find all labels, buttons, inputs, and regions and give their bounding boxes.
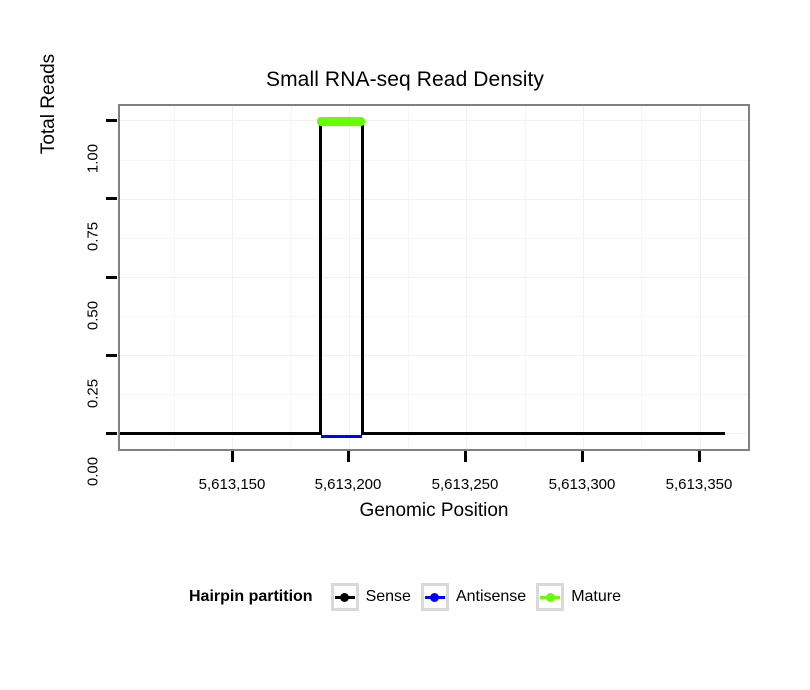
x-tick-mark-5613150 xyxy=(231,451,234,462)
y-axis-title: Total Reads xyxy=(38,4,62,204)
legend-label-mature: Mature xyxy=(571,588,621,606)
legend-label-antisense: Antisense xyxy=(456,588,526,606)
legend-label-sense: Sense xyxy=(366,588,411,606)
legend-key-antisense-icon xyxy=(421,583,449,611)
sense-baseline-right xyxy=(361,432,725,435)
gridline-h-0-75 xyxy=(120,199,748,200)
legend-key-sense-icon xyxy=(331,583,359,611)
y-tick-label-0-00: 0.00 xyxy=(85,442,102,502)
legend-key-mature-icon xyxy=(536,583,564,611)
x-tick-label-5613350: 5,613,350 xyxy=(666,476,733,493)
y-tick-mark-0-00 xyxy=(106,432,117,435)
y-tick-label-0-75: 0.75 xyxy=(85,207,102,267)
legend-entry-antisense[interactable]: Antisense xyxy=(421,583,526,611)
x-tick-label-5613200: 5,613,200 xyxy=(315,476,382,493)
page-title: Small RNA-seq Read Density xyxy=(0,68,810,92)
x-tick-mark-5613350 xyxy=(698,451,701,462)
gridline-h-minor-4 xyxy=(120,394,748,395)
legend-entry-sense[interactable]: Sense xyxy=(331,583,411,611)
gridline-h-0-25 xyxy=(120,355,748,356)
plot-panel xyxy=(118,104,750,451)
y-tick-mark-0-25 xyxy=(106,354,117,357)
chart-figure: Small RNA-seq Read Density Total Reads G… xyxy=(0,0,810,690)
mature-line xyxy=(317,117,365,126)
sense-baseline-left xyxy=(119,432,321,435)
y-tick-label-1-00: 1.00 xyxy=(85,129,102,189)
y-tick-label-0-25: 0.25 xyxy=(85,364,102,424)
y-tick-mark-0-75 xyxy=(106,197,117,200)
legend: Hairpin partition Sense Antisense Mature xyxy=(0,583,810,611)
x-tick-mark-5613300 xyxy=(581,451,584,462)
y-tick-label-0-50: 0.50 xyxy=(85,286,102,346)
legend-entry-mature[interactable]: Mature xyxy=(536,583,621,611)
gridline-h-0-50 xyxy=(120,277,748,278)
x-tick-label-5613300: 5,613,300 xyxy=(549,476,616,493)
gridline-h-1-00 xyxy=(120,120,748,121)
sense-peak-riser-left xyxy=(319,121,322,435)
sense-peak-riser-right xyxy=(361,121,364,435)
legend-title: Hairpin partition xyxy=(189,588,313,606)
y-tick-mark-0-50 xyxy=(106,276,117,279)
x-tick-mark-5613250 xyxy=(464,451,467,462)
y-tick-mark-1-00 xyxy=(106,119,117,122)
gridline-h-minor-3 xyxy=(120,316,748,317)
y-axis-title-label: Total Reads xyxy=(38,4,60,204)
x-axis-title: Genomic Position xyxy=(118,500,750,522)
gridline-h-minor-2 xyxy=(120,238,748,239)
x-tick-label-5613150: 5,613,150 xyxy=(199,476,266,493)
x-tick-label-5613250: 5,613,250 xyxy=(432,476,499,493)
antisense-line xyxy=(321,435,362,438)
gridline-h-minor-1 xyxy=(120,160,748,161)
x-tick-mark-5613200 xyxy=(347,451,350,462)
